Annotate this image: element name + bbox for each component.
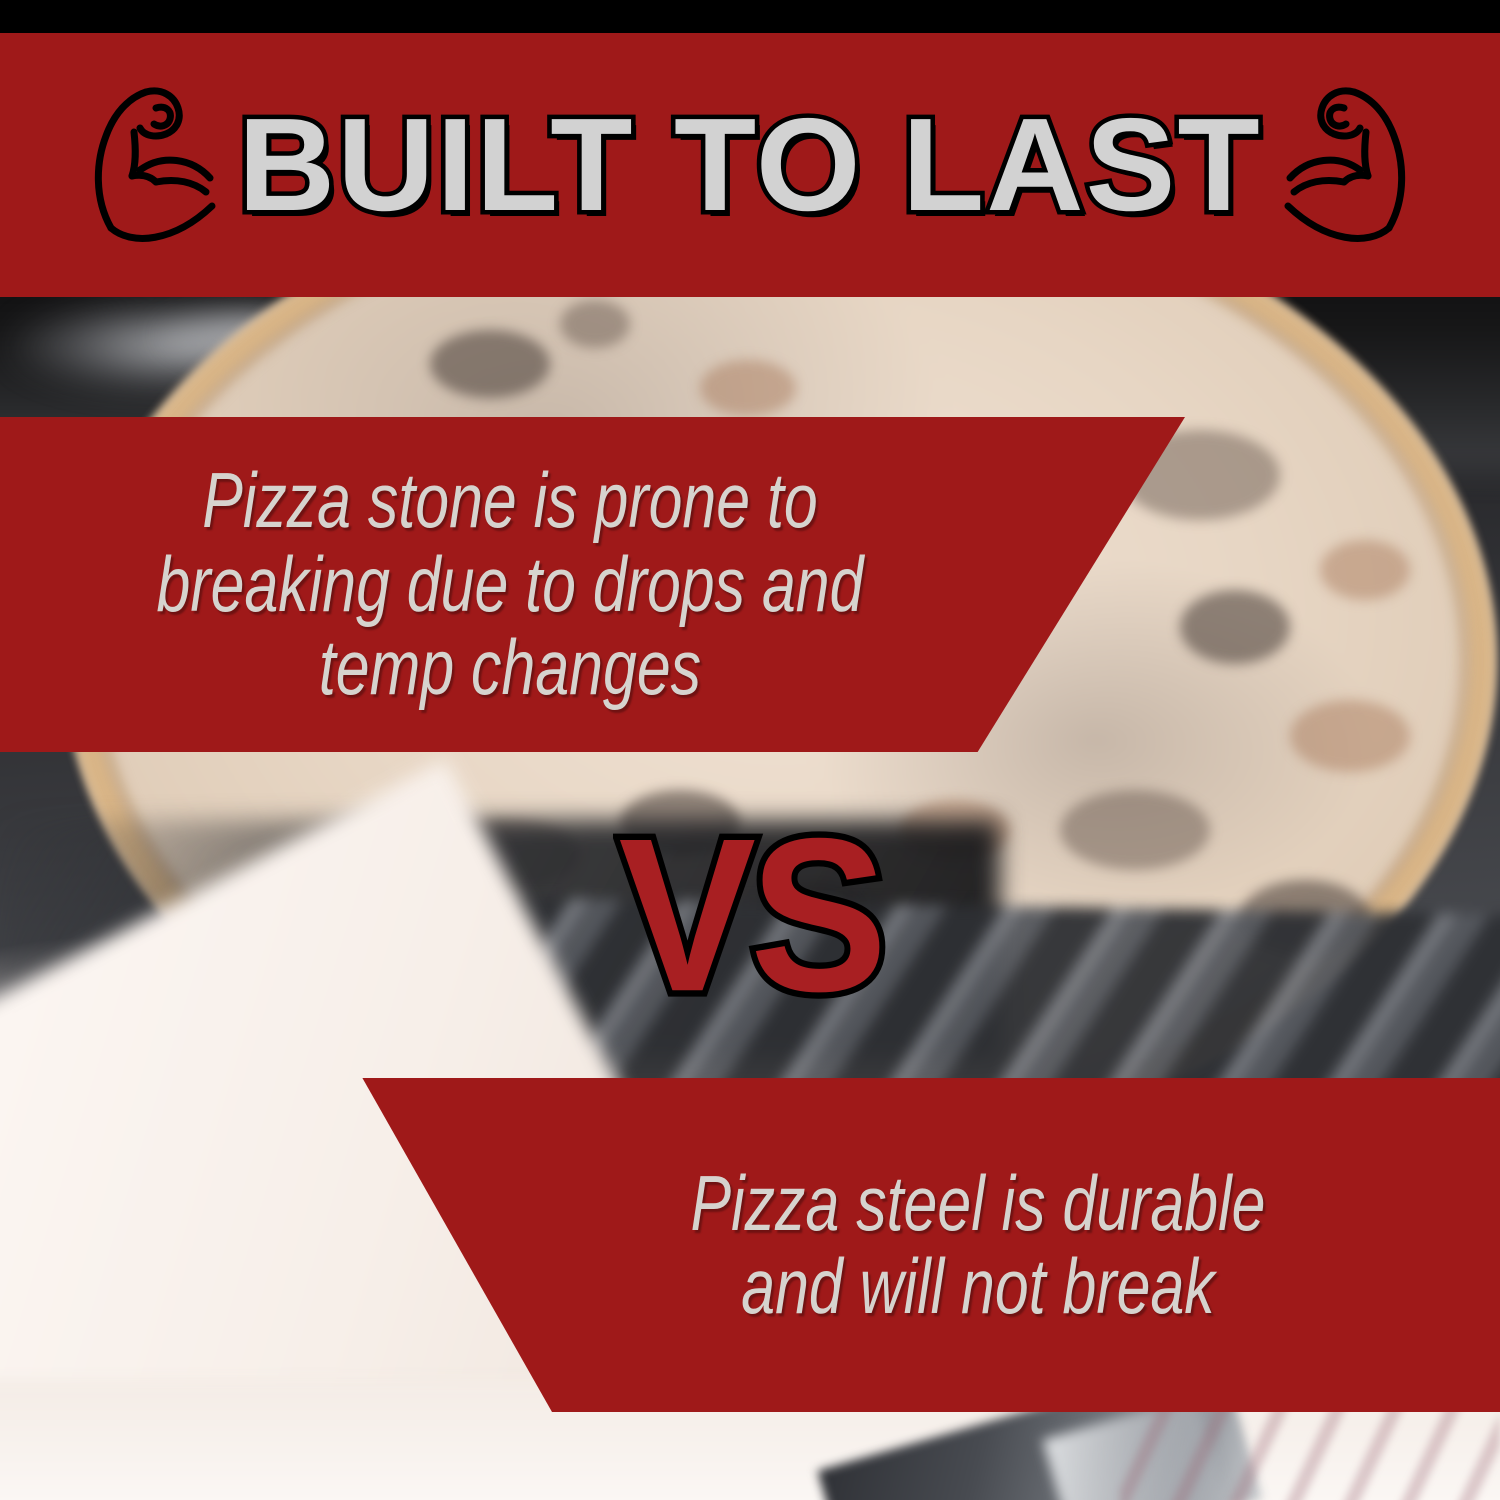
comparison-text-right: Pizza steel is durable and will not brea… <box>580 1162 1376 1329</box>
background-diagonal-lines <box>1120 1400 1500 1500</box>
page-title: BUILT TO LAST <box>238 99 1262 231</box>
comparison-text-right-line: and will not break <box>580 1245 1376 1328</box>
stone-speck <box>700 360 796 416</box>
comparison-text-left-line: temp changes <box>116 626 904 709</box>
comparison-text-left-line: Pizza stone is prone to <box>116 459 904 542</box>
comparison-banner-left: Pizza stone is prone to breaking due to … <box>0 417 1185 752</box>
stone-speck <box>1320 540 1410 600</box>
comparison-text-left: Pizza stone is prone to breaking due to … <box>116 459 904 709</box>
comparison-text-right-line: Pizza steel is durable <box>580 1162 1376 1245</box>
stone-speck <box>1060 790 1210 870</box>
comparison-text-left-line: breaking due to drops and <box>116 543 904 626</box>
stone-speck <box>430 330 550 398</box>
header-banner: BUILT TO LAST <box>0 33 1500 297</box>
flexed-bicep-icon <box>70 78 222 253</box>
product-comparison-graphic: BUILT TO LAST Pizza stone is prone to <box>0 0 1500 1500</box>
stone-speck <box>560 300 630 348</box>
stone-speck <box>1180 590 1290 664</box>
flexed-bicep-icon <box>1278 78 1430 253</box>
top-black-bar <box>0 0 1500 33</box>
stone-speck <box>1290 700 1410 772</box>
